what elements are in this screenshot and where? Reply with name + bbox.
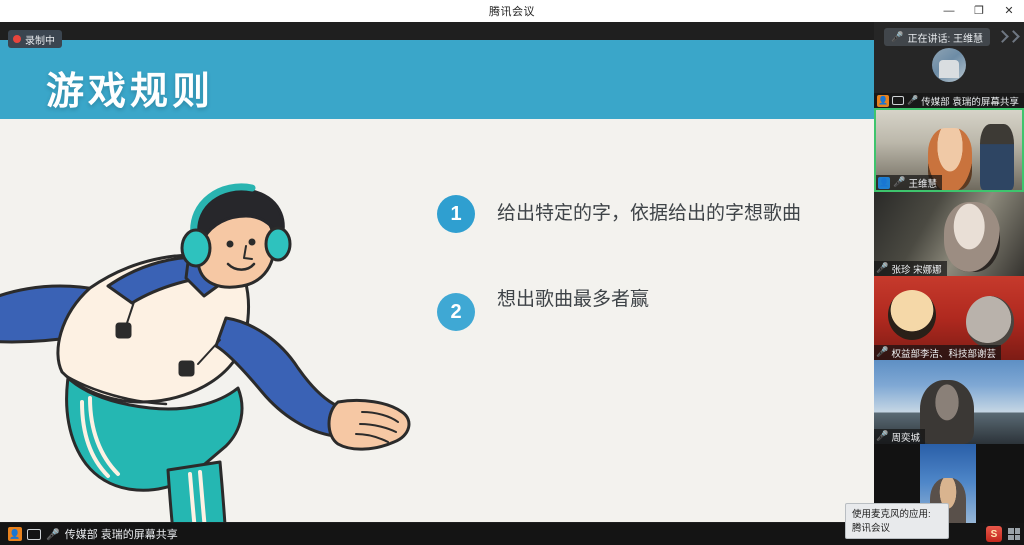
speaking-label: 正在讲话: 王维慧 — [907, 30, 983, 45]
participant-label: 🎤 权益部李洁、科技部谢芸 — [874, 345, 1001, 360]
bullet-number-1: 1 — [437, 195, 475, 233]
participants-rail: 🎤 正在讲话: 王维慧 👤 🎤 传媒部 袁瑞的屏幕共享 👤 🎤 王维慧 — [874, 22, 1024, 523]
participant-tile-1[interactable]: 👤 🎤 王维慧 — [874, 108, 1024, 192]
mic-icon: 🎤 — [893, 177, 905, 188]
speaker-panel-share-label: 传媒部 袁瑞的屏幕共享 — [921, 94, 1019, 108]
taskbar-share-label: 传媒部 袁瑞的屏幕共享 — [65, 526, 178, 542]
mic-muted-icon: 🎤 — [876, 263, 888, 274]
participant-name: 王维慧 — [908, 176, 937, 190]
participant-label: 👤 🎤 王维慧 — [876, 175, 942, 190]
mic-muted-icon: 🎤 — [46, 528, 60, 541]
window-title: 腾讯会议 — [489, 3, 535, 19]
participant-label: 🎤 周奕城 — [874, 429, 925, 444]
avatar — [932, 48, 966, 82]
participant-tile-2[interactable]: 🎤 张珍 宋娜娜 — [874, 192, 1024, 276]
active-speaker-panel[interactable]: 🎤 正在讲话: 王维慧 👤 🎤 传媒部 袁瑞的屏幕共享 — [874, 22, 1024, 108]
window-controls: — ❐ ✕ — [934, 0, 1024, 22]
recorder-tray-icon[interactable]: S — [986, 526, 1002, 542]
participant-name: 权益部李洁、科技部谢芸 — [891, 346, 996, 360]
system-tray: S — [986, 523, 1020, 545]
mic-muted-icon: 🎤 — [876, 347, 888, 358]
mic-muted-icon: 🎤 — [876, 431, 888, 442]
user-icon: 👤 — [8, 527, 22, 541]
close-button[interactable]: ✕ — [994, 0, 1024, 22]
recording-label: 录制中 — [25, 32, 55, 47]
user-icon: 👤 — [878, 177, 890, 189]
bullet-text-2: 想出歌曲最多者赢 — [497, 279, 649, 315]
screen-share-icon — [892, 96, 904, 105]
mic-muted-icon: 🎤 — [907, 95, 918, 106]
presentation-slide: 游戏规则 — [0, 40, 874, 522]
shared-screen-stage: 游戏规则 — [0, 22, 874, 523]
microphone-usage-tooltip: 使用麦克风的应用: 腾讯会议 — [845, 503, 949, 539]
minimize-button[interactable]: — — [934, 0, 964, 22]
window-titlebar: 腾讯会议 — ❐ ✕ — [0, 0, 1024, 22]
participant-tile-3[interactable]: 🎤 权益部李洁、科技部谢芸 — [874, 276, 1024, 360]
tencent-meeting-window: 腾讯会议 — ❐ ✕ 游戏规则 — [0, 0, 1024, 545]
bullet-item-2: 2 想出歌曲最多者赢 — [437, 279, 837, 331]
tooltip-line-2: 腾讯会议 — [852, 522, 942, 536]
user-icon: 👤 — [877, 95, 889, 107]
speaker-panel-label: 👤 🎤 传媒部 袁瑞的屏幕共享 — [874, 93, 1024, 108]
runner-illustration — [0, 140, 440, 522]
participant-label: 🎤 张珍 宋娜娜 — [874, 261, 947, 276]
bullet-text-1: 给出特定的字，依据给出的字想歌曲 — [497, 195, 801, 229]
mic-icon: 🎤 — [891, 32, 903, 43]
participant-name: 张珍 宋娜娜 — [891, 262, 941, 276]
speaking-indicator: 🎤 正在讲话: 王维慧 — [884, 28, 990, 46]
chevron-right-icon[interactable] — [998, 32, 1018, 41]
slide-title: 游戏规则 — [46, 60, 214, 115]
taskbar-share-status: 👤 🎤 传媒部 袁瑞的屏幕共享 — [0, 526, 178, 542]
participant-name: 周奕城 — [891, 430, 920, 444]
slide-bullet-list: 1 给出特定的字，依据给出的字想歌曲 2 想出歌曲最多者赢 — [437, 195, 837, 377]
maximize-button[interactable]: ❐ — [964, 0, 994, 22]
show-desktop-icon[interactable] — [1008, 528, 1020, 540]
screen-share-icon — [27, 529, 41, 540]
bullet-number-2: 2 — [437, 293, 475, 331]
tooltip-line-1: 使用麦克风的应用: — [852, 508, 942, 522]
participant-tile-4[interactable]: 🎤 周奕城 — [874, 360, 1024, 444]
recording-dot-icon — [13, 35, 21, 43]
recording-badge[interactable]: 录制中 — [8, 30, 62, 48]
bullet-item-1: 1 给出特定的字，依据给出的字想歌曲 — [437, 195, 837, 233]
